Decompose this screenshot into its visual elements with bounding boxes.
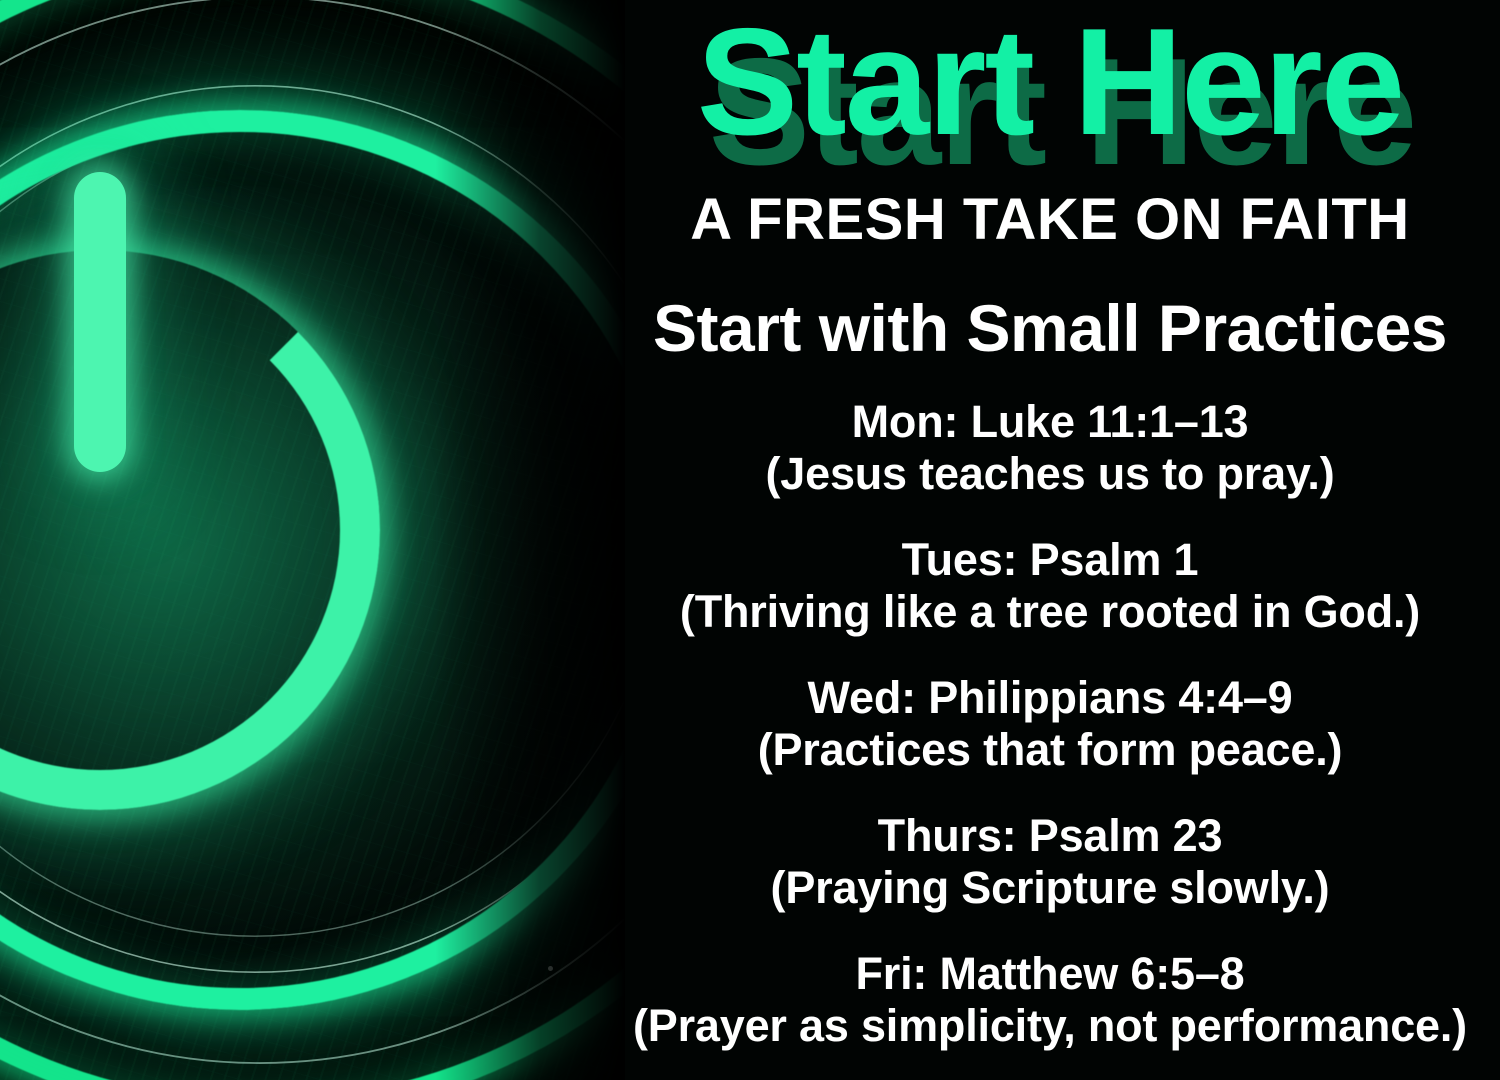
power-icon-bar	[74, 172, 126, 472]
title-block: Start Here Start Here	[600, 6, 1500, 176]
reading-plan-reference: Fri: Matthew 6:5–8	[590, 948, 1500, 1000]
reading-plan-entry: Mon: Luke 11:1–13(Jesus teaches us to pr…	[590, 396, 1500, 500]
reading-plan-note: (Jesus teaches us to pray.)	[590, 448, 1500, 500]
section-heading: Start with Small Practices	[600, 290, 1500, 366]
reading-plan-reference: Thurs: Psalm 23	[590, 810, 1500, 862]
power-button-artwork	[0, 0, 625, 1080]
content-column: Start Here Start Here A FRESH TAKE ON FA…	[600, 0, 1500, 1080]
reading-plan-entry: Thurs: Psalm 23(Praying Scripture slowly…	[590, 810, 1500, 914]
page-title: Start Here	[600, 6, 1500, 158]
power-icon	[0, 250, 380, 810]
reading-plan-note: (Thriving like a tree rooted in God.)	[590, 586, 1500, 638]
reading-plan-entry: Wed: Philippians 4:4–9(Practices that fo…	[590, 672, 1500, 776]
reading-plan-reference: Wed: Philippians 4:4–9	[590, 672, 1500, 724]
reading-plan-reference: Mon: Luke 11:1–13	[590, 396, 1500, 448]
reading-plan-list: Mon: Luke 11:1–13(Jesus teaches us to pr…	[590, 396, 1500, 1052]
reading-plan-note: (Practices that form peace.)	[590, 724, 1500, 776]
page-subtitle: A FRESH TAKE ON FAITH	[600, 188, 1500, 252]
reading-plan-entry: Fri: Matthew 6:5–8(Prayer as simplicity,…	[590, 948, 1500, 1052]
reading-plan-note: (Prayer as simplicity, not performance.)	[590, 1000, 1500, 1052]
reading-plan-reference: Tues: Psalm 1	[590, 534, 1500, 586]
power-icon-arc	[0, 250, 380, 810]
reading-plan-note: (Praying Scripture slowly.)	[590, 862, 1500, 914]
poster-canvas: Start Here Start Here A FRESH TAKE ON FA…	[0, 0, 1500, 1080]
reading-plan-entry: Tues: Psalm 1(Thriving like a tree roote…	[590, 534, 1500, 638]
